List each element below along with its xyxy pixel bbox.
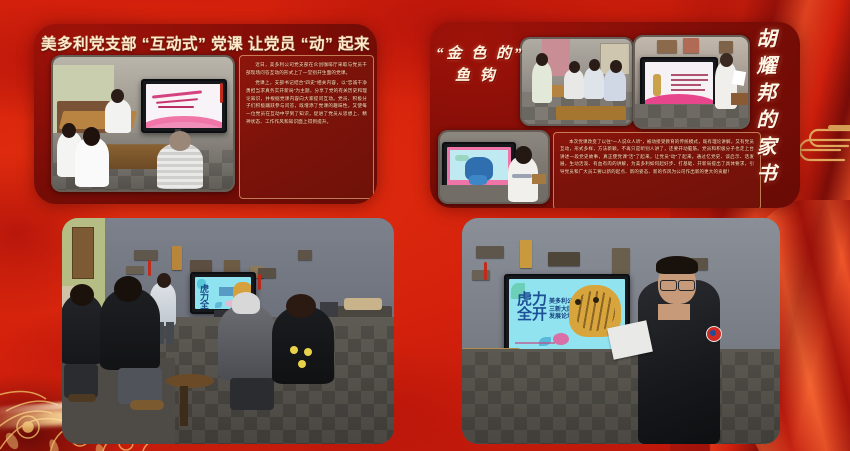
poster-canvas: 美多利党支部 “互动式” 党课 让党员 “动” 起来: [0, 0, 850, 451]
left-article-text: 近日，美多利公司党支部在众创咖啡厅采取与党员干部现场问答互动的形式上了一堂别开生…: [239, 55, 374, 199]
left-card-title: 美多利党支部 “互动式” 党课 让党员 “动” 起来: [34, 32, 377, 54]
right-paragraph-1: 本次党课改变了以往“一人说众人听”，被动接受教育的传统模式，既有理论讲解，又有党…: [560, 138, 754, 175]
right-article-text: 本次党课改变了以往“一人说众人听”，被动接受教育的传统模式，既有理论讲解，又有党…: [553, 132, 761, 208]
photo-speaker-reading[interactable]: 虎力全开 美多利公司 三新大国企 发展论坛: [462, 218, 780, 444]
bottom-right-screen-title: 虎力全开: [517, 293, 547, 323]
bottom-left-screen-title: 虎力全开: [200, 285, 216, 301]
photo-story-sharing[interactable]: [438, 130, 550, 204]
left-article-card: 美多利党支部 “互动式” 党课 让党员 “动” 起来: [34, 24, 377, 204]
callig-label-gold-line1: “金 色 的”: [436, 42, 525, 63]
photo-group-seated[interactable]: [520, 37, 634, 126]
callig-label-gold-line2: 鱼 钩: [455, 64, 498, 85]
left-paragraph-2: 党课上，支部书记结合“四史”相关内容，以“忠诚干净勇担当求真务实开新局”为主题，…: [246, 79, 367, 126]
left-paragraph-1: 近日，美多利公司党支部在众创咖啡厅采取与党员干部现场问答互动的形式上了一堂别开生…: [246, 61, 367, 77]
photo-member-presenting[interactable]: [633, 35, 750, 129]
photo-audience-hall[interactable]: 虎力全开: [62, 218, 394, 444]
callig-vertical-title: 胡耀邦的家书: [745, 28, 779, 190]
photo-dangke-meeting[interactable]: [51, 55, 235, 192]
